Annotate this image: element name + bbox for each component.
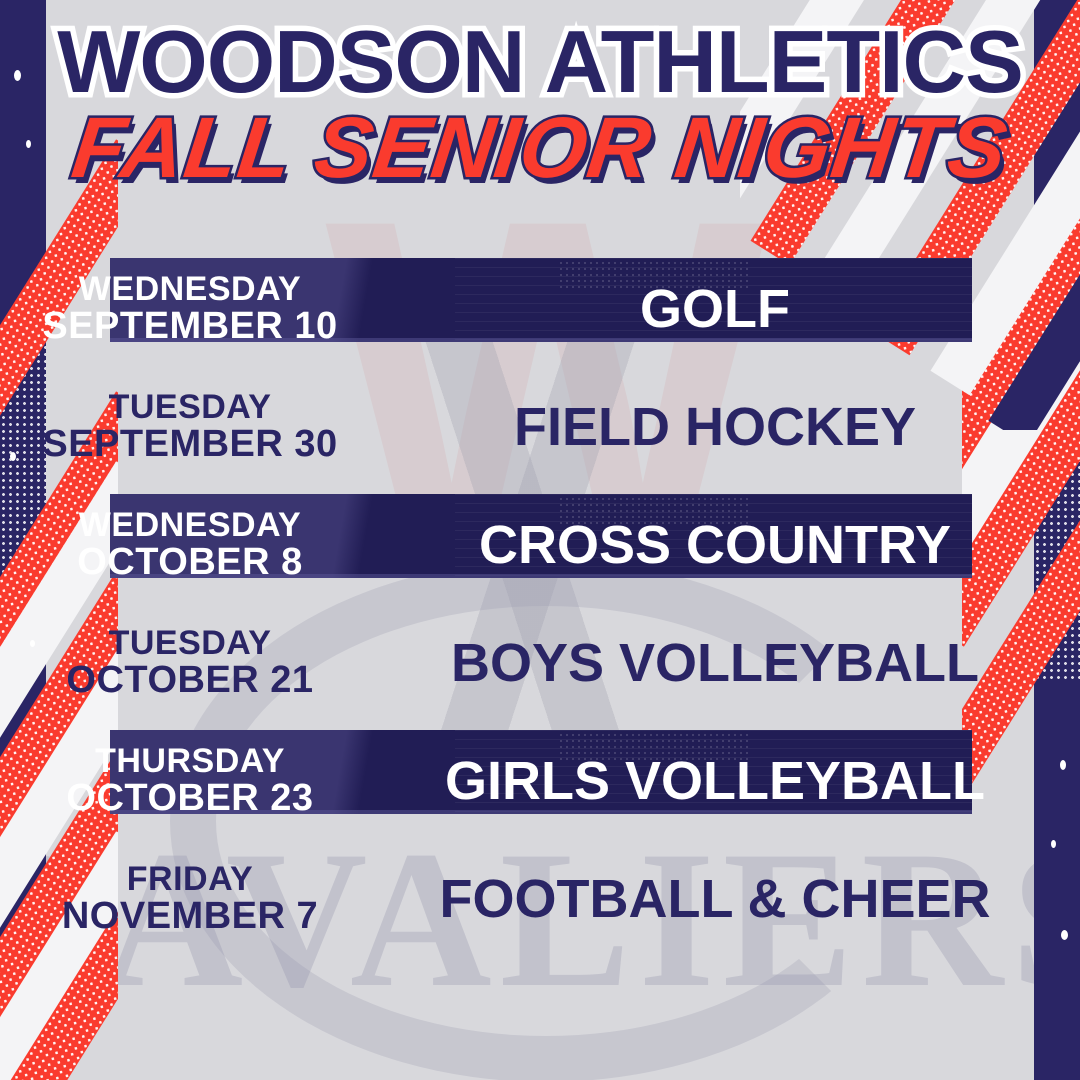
event-sport: BOYS VOLLEYBALL: [370, 636, 1080, 690]
schedule-list: WEDNESDAYSEPTEMBER 10GOLFTUESDAYSEPTEMBE…: [0, 250, 1080, 958]
event-weekday: TUESDAY: [10, 390, 370, 425]
event-weekday: WEDNESDAY: [10, 508, 370, 543]
schedule-row: TUESDAYSEPTEMBER 30FIELD HOCKEY: [0, 368, 1080, 486]
event-date: WEDNESDAYSEPTEMBER 10: [10, 272, 370, 347]
event-sport: CROSS COUNTRY: [370, 518, 1080, 572]
event-sport: GOLF: [370, 282, 1080, 336]
row-cells: TUESDAYSEPTEMBER 30FIELD HOCKEY: [0, 390, 1080, 465]
event-weekday: TUESDAY: [10, 626, 370, 661]
schedule-row: TUESDAYOCTOBER 21BOYS VOLLEYBALL: [0, 604, 1080, 722]
schedule-row: WEDNESDAYOCTOBER 8CROSS COUNTRY: [0, 486, 1080, 604]
event-weekday: THURSDAY: [10, 744, 370, 779]
poster-title: WOODSON ATHLETICS: [0, 14, 1080, 109]
event-date: TUESDAYSEPTEMBER 30: [10, 390, 370, 465]
event-date: THURSDAYOCTOBER 23: [10, 744, 370, 819]
event-date: TUESDAYOCTOBER 21: [10, 626, 370, 701]
poster-canvas: W CAVALIERS: [0, 0, 1080, 1080]
schedule-row: FRIDAYNOVEMBER 7FOOTBALL & CHEER: [0, 840, 1080, 958]
event-month-day: OCTOBER 8: [10, 543, 370, 583]
row-cells: WEDNESDAYSEPTEMBER 10GOLF: [0, 272, 1080, 347]
event-date: FRIDAYNOVEMBER 7: [10, 862, 370, 937]
event-weekday: FRIDAY: [10, 862, 370, 897]
schedule-row: WEDNESDAYSEPTEMBER 10GOLF: [0, 250, 1080, 368]
event-month-day: OCTOBER 23: [10, 779, 370, 819]
event-month-day: NOVEMBER 7: [10, 897, 370, 937]
row-cells: WEDNESDAYOCTOBER 8CROSS COUNTRY: [0, 508, 1080, 583]
event-sport: FOOTBALL & CHEER: [370, 872, 1080, 926]
row-cells: THURSDAYOCTOBER 23GIRLS VOLLEYBALL: [0, 744, 1080, 819]
event-month-day: OCTOBER 21: [10, 661, 370, 701]
event-weekday: WEDNESDAY: [10, 272, 370, 307]
event-month-day: SEPTEMBER 10: [10, 307, 370, 347]
poster-subtitle: FALL SENIOR NIGHTS: [0, 103, 1080, 193]
schedule-row: THURSDAYOCTOBER 23GIRLS VOLLEYBALL: [0, 722, 1080, 840]
event-sport: GIRLS VOLLEYBALL: [370, 754, 1080, 808]
event-date: WEDNESDAYOCTOBER 8: [10, 508, 370, 583]
poster-header: WOODSON ATHLETICS FALL SENIOR NIGHTS: [0, 0, 1080, 193]
row-cells: FRIDAYNOVEMBER 7FOOTBALL & CHEER: [0, 862, 1080, 937]
row-cells: TUESDAYOCTOBER 21BOYS VOLLEYBALL: [0, 626, 1080, 701]
event-month-day: SEPTEMBER 30: [10, 425, 370, 465]
event-sport: FIELD HOCKEY: [370, 400, 1080, 454]
